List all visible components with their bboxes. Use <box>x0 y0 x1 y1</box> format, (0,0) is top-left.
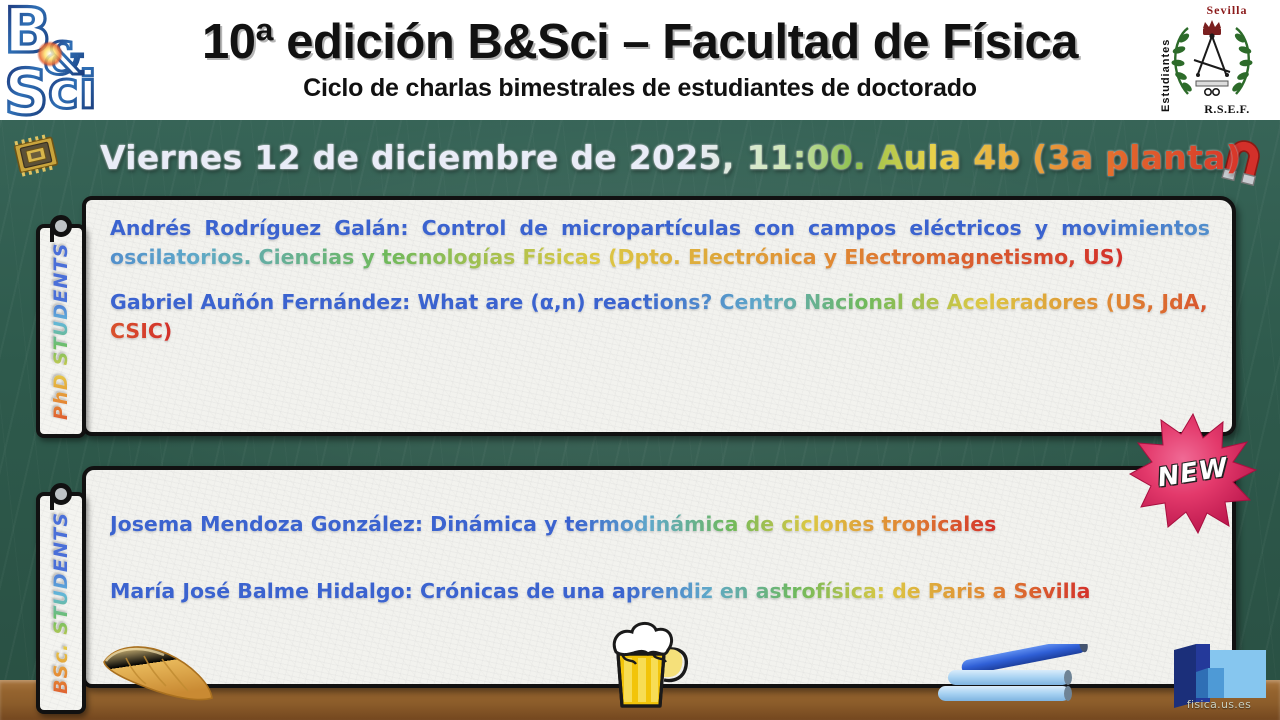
rsef-emblem-icon <box>1158 2 1266 118</box>
status-badge: NEW <box>1128 412 1258 534</box>
svg-text:S: S <box>4 56 49 124</box>
phd-panel-content: Andrés Rodríguez Galán: Control de micro… <box>86 200 1232 356</box>
chalk-sticks-icon <box>930 644 1110 704</box>
poster-header: B S ci & 10ª edición B&Sci – Facultad de… <box>0 0 1280 120</box>
header-inner: B S ci & 10ª edición B&Sci – Facultad de… <box>0 0 1280 120</box>
sidebar-item-label: BSc. STUDENTS <box>40 496 82 710</box>
sidebar-item-bsc-students[interactable]: BSc. STUDENTS <box>36 492 86 714</box>
bsc-panel-content: Josema Mendoza González: Dinámica y term… <box>86 470 1232 616</box>
talk-text: Andrés Rodríguez Galán: Control de micro… <box>110 216 1210 269</box>
rsef-bottom-label: R.S.E.F. <box>1188 102 1266 117</box>
phd-students-panel: Andrés Rodríguez Galán: Control de micro… <box>82 196 1236 436</box>
event-datetime-text: Viernes 12 de diciembre de 2025, 11:00. … <box>100 138 1241 177</box>
beer-mug-icon <box>600 620 694 712</box>
spiral-binding-icon <box>46 480 76 514</box>
spiral-binding-icon <box>46 212 76 246</box>
page-title: 10ª edición B&Sci – Facultad de Física <box>202 17 1078 68</box>
event-datetime: Viernes 12 de diciembre de 2025, 11:00. … <box>100 138 1241 177</box>
list-item: María José Balme Hidalgo: Crónicas de un… <box>110 577 1210 606</box>
rsef-logo: Estudiantes Sevilla <box>1158 2 1266 118</box>
talk-text: Gabriel Auñón Fernández: What are (α,n) … <box>110 290 1208 343</box>
list-item: Josema Mendoza González: Dinámica y term… <box>110 510 1210 539</box>
croissant-icon <box>96 632 218 708</box>
microchip-icon <box>8 132 64 178</box>
status-badge-label: NEW <box>1119 403 1266 544</box>
sidebar-item-phd-students[interactable]: PhD STUDENTS <box>36 224 86 438</box>
site-caption: fisica.us.es <box>1166 698 1272 711</box>
talk-text: María José Balme Hidalgo: Crónicas de un… <box>110 579 1091 603</box>
list-item: Gabriel Auñón Fernández: What are (α,n) … <box>110 288 1210 346</box>
bsci-logo: B S ci & <box>2 0 120 124</box>
sidebar-item-label: PhD STUDENTS <box>40 228 82 434</box>
list-item: Andrés Rodríguez Galán: Control de micro… <box>110 214 1210 272</box>
header-text-block: 10ª edición B&Sci – Facultad de Física C… <box>120 0 1160 120</box>
talk-text: Josema Mendoza González: Dinámica y term… <box>110 512 996 536</box>
page-title-text: 10ª edición B&Sci – Facultad de Física <box>202 15 1078 69</box>
page-subtitle: Ciclo de charlas bimestrales de estudian… <box>303 74 977 103</box>
